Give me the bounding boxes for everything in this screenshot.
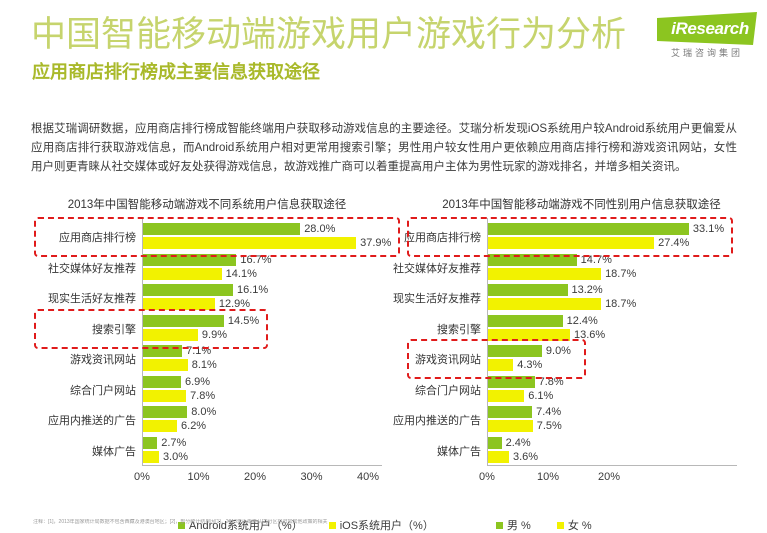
chart-row: 搜索引擎14.5%9.9% <box>142 314 368 344</box>
bar-value-label: 12.4% <box>567 315 598 327</box>
category-label: 应用商店排行榜 <box>59 229 136 245</box>
axis-baseline <box>142 465 382 466</box>
bar-value-label: 37.9% <box>360 237 391 249</box>
x-axis-tick: 20% <box>244 471 266 483</box>
bar-value-label: 14.7% <box>581 254 612 266</box>
bar-yellow: 18.7% <box>487 268 601 280</box>
axis-zero-line <box>142 218 143 465</box>
bar-value-label: 18.7% <box>605 268 636 280</box>
bar-green: 12.4% <box>487 315 563 327</box>
bar-yellow: 3.6% <box>487 451 509 463</box>
chart-title: 2013年中国智能移动端游戏不同性别用户信息获取途径 <box>396 196 767 212</box>
bar-green: 6.9% <box>142 376 181 388</box>
bar-value-label: 14.1% <box>226 268 257 280</box>
chart-row: 综合门户网站7.8%6.1% <box>487 375 731 405</box>
chart-row: 应用商店排行榜28.0%37.9% <box>142 222 368 252</box>
bar-value-label: 28.0% <box>304 223 335 235</box>
category-label: 现实生活好友推荐 <box>48 290 136 306</box>
category-label: 媒体广告 <box>92 443 136 459</box>
bar-value-label: 16.1% <box>237 284 268 296</box>
chart-plot-area: 应用商店排行榜28.0%37.9%社交媒体好友推荐16.7%14.1%现实生活好… <box>18 218 396 470</box>
chart-title: 2013年中国智能移动端游戏不同系统用户信息获取途径 <box>18 196 396 212</box>
intro-paragraph: 根据艾瑞调研数据，应用商店排行榜成智能终端用户获取移动游戏信息的主要途径。艾瑞分… <box>31 120 737 177</box>
chart-row: 媒体广告2.7%3.0% <box>142 436 368 466</box>
bar-yellow: 9.9% <box>142 329 198 341</box>
category-label: 应用内推送的广告 <box>393 412 481 428</box>
bar-value-label: 9.9% <box>202 329 227 341</box>
bar-value-label: 8.0% <box>191 406 216 418</box>
page-title: 中国智能移动端游戏用户游戏行为分析 <box>31 13 626 57</box>
chart-row: 应用内推送的广告7.4%7.5% <box>487 405 731 435</box>
bar-value-label: 8.1% <box>192 359 217 371</box>
bar-green: 7.4% <box>487 406 532 418</box>
bar-value-label: 6.9% <box>185 376 210 388</box>
bar-value-label: 16.7% <box>240 254 271 266</box>
bar-green: 14.7% <box>487 254 577 266</box>
category-label: 社交媒体好友推荐 <box>48 260 136 276</box>
bar-green: 33.1% <box>487 223 689 235</box>
category-label: 社交媒体好友推荐 <box>393 260 481 276</box>
bar-green: 16.7% <box>142 254 236 266</box>
bar-yellow: 6.2% <box>142 420 177 432</box>
chart-row: 游戏资讯网站7.1%8.1% <box>142 344 368 374</box>
chart-panel-systems: 2013年中国智能移动端游戏不同系统用户信息获取途径 应用商店排行榜28.0%3… <box>18 196 396 516</box>
axis-baseline <box>487 465 737 466</box>
x-axis-tick: 30% <box>300 471 322 483</box>
bar-green: 7.1% <box>142 345 182 357</box>
chart-row: 综合门户网站6.9%7.8% <box>142 375 368 405</box>
bar-green: 13.2% <box>487 284 568 296</box>
bar-yellow: 7.5% <box>487 420 533 432</box>
bar-value-label: 7.5% <box>537 420 562 432</box>
bar-value-label: 7.1% <box>186 345 211 357</box>
bar-green: 14.5% <box>142 315 224 327</box>
x-axis-tick: 0% <box>134 471 150 483</box>
bar-green: 9.0% <box>487 345 542 357</box>
category-label: 游戏资讯网站 <box>415 351 481 367</box>
bar-green: 16.1% <box>142 284 233 296</box>
chart-row: 游戏资讯网站9.0%4.3% <box>487 344 731 374</box>
bar-value-label: 3.6% <box>513 451 538 463</box>
chart-row: 现实生活好友推荐16.1%12.9% <box>142 283 368 313</box>
bar-yellow: 14.1% <box>142 268 222 280</box>
bar-yellow: 7.8% <box>142 390 186 402</box>
chart-row: 搜索引擎12.4%13.6% <box>487 314 731 344</box>
chart-row: 媒体广告2.4%3.6% <box>487 436 731 466</box>
page-header: 中国智能移动端游戏用户游戏行为分析 应用商店排行榜成主要信息获取途径 iRese… <box>0 0 767 96</box>
bar-value-label: 14.5% <box>228 315 259 327</box>
bar-yellow: 37.9% <box>142 237 356 249</box>
category-label: 现实生活好友推荐 <box>393 290 481 306</box>
bar-green: 8.0% <box>142 406 187 418</box>
bar-yellow: 13.6% <box>487 329 570 341</box>
logo-wordmark: iResearch <box>663 16 757 42</box>
x-axis-tick: 10% <box>537 471 559 483</box>
bar-yellow: 3.0% <box>142 451 159 463</box>
bar-value-label: 2.4% <box>506 437 531 449</box>
x-axis-tick: 40% <box>357 471 379 483</box>
category-label: 媒体广告 <box>437 443 481 459</box>
category-label: 应用内推送的广告 <box>48 412 136 428</box>
bar-value-label: 3.0% <box>163 451 188 463</box>
bar-yellow: 4.3% <box>487 359 513 371</box>
bar-green: 2.7% <box>142 437 157 449</box>
iresearch-logo: iResearch 艾瑞咨询集团 <box>649 12 759 64</box>
bar-value-label: 12.9% <box>219 298 250 310</box>
bar-value-label: 18.7% <box>605 298 636 310</box>
bar-value-label: 4.3% <box>517 359 542 371</box>
category-label: 游戏资讯网站 <box>70 351 136 367</box>
chart-row: 应用内推送的广告8.0%6.2% <box>142 405 368 435</box>
category-label: 应用商店排行榜 <box>404 229 481 245</box>
bar-green: 2.4% <box>487 437 502 449</box>
bar-value-label: 7.4% <box>536 406 561 418</box>
bar-value-label: 13.6% <box>574 329 605 341</box>
category-label: 搜索引擎 <box>437 321 481 337</box>
bar-green: 7.8% <box>487 376 535 388</box>
category-label: 搜索引擎 <box>92 321 136 337</box>
chart-panel-gender: 2013年中国智能移动端游戏不同性别用户信息获取途径 应用商店排行榜33.1%2… <box>396 196 767 516</box>
chart-row: 现实生活好友推荐13.2%18.7% <box>487 283 731 313</box>
bar-value-label: 6.1% <box>528 390 553 402</box>
category-label: 综合门户网站 <box>415 382 481 398</box>
bar-value-label: 13.2% <box>572 284 603 296</box>
page-subtitle: 应用商店排行榜成主要信息获取途径 <box>32 60 320 84</box>
bar-value-label: 7.8% <box>539 376 564 388</box>
axis-zero-line <box>487 218 488 465</box>
logo-company-name: 艾瑞咨询集团 <box>657 46 757 59</box>
bar-value-label: 33.1% <box>693 223 724 235</box>
x-axis-tick: 20% <box>598 471 620 483</box>
x-axis-tick: 10% <box>187 471 209 483</box>
bar-yellow: 12.9% <box>142 298 215 310</box>
category-label: 综合门户网站 <box>70 382 136 398</box>
bar-value-label: 2.7% <box>161 437 186 449</box>
bar-value-label: 27.4% <box>658 237 689 249</box>
bar-yellow: 6.1% <box>487 390 524 402</box>
bar-value-label: 7.8% <box>190 390 215 402</box>
bar-value-label: 9.0% <box>546 345 571 357</box>
chart-row: 社交媒体好友推荐16.7%14.1% <box>142 253 368 283</box>
footnote: 注释：[1]，2013年国家统计局数据不包含西藏及港澳台地区；[2]，部分统计结… <box>33 519 733 526</box>
chart-row: 社交媒体好友推荐14.7%18.7% <box>487 253 731 283</box>
chart-row: 应用商店排行榜33.1%27.4% <box>487 222 731 252</box>
bar-yellow: 18.7% <box>487 298 601 310</box>
bar-green: 28.0% <box>142 223 300 235</box>
bar-yellow: 27.4% <box>487 237 654 249</box>
bar-value-label: 6.2% <box>181 420 206 432</box>
chart-plot-area: 应用商店排行榜33.1%27.4%社交媒体好友推荐14.7%18.7%现实生活好… <box>396 218 767 470</box>
x-axis-tick: 0% <box>479 471 495 483</box>
bar-yellow: 8.1% <box>142 359 188 371</box>
